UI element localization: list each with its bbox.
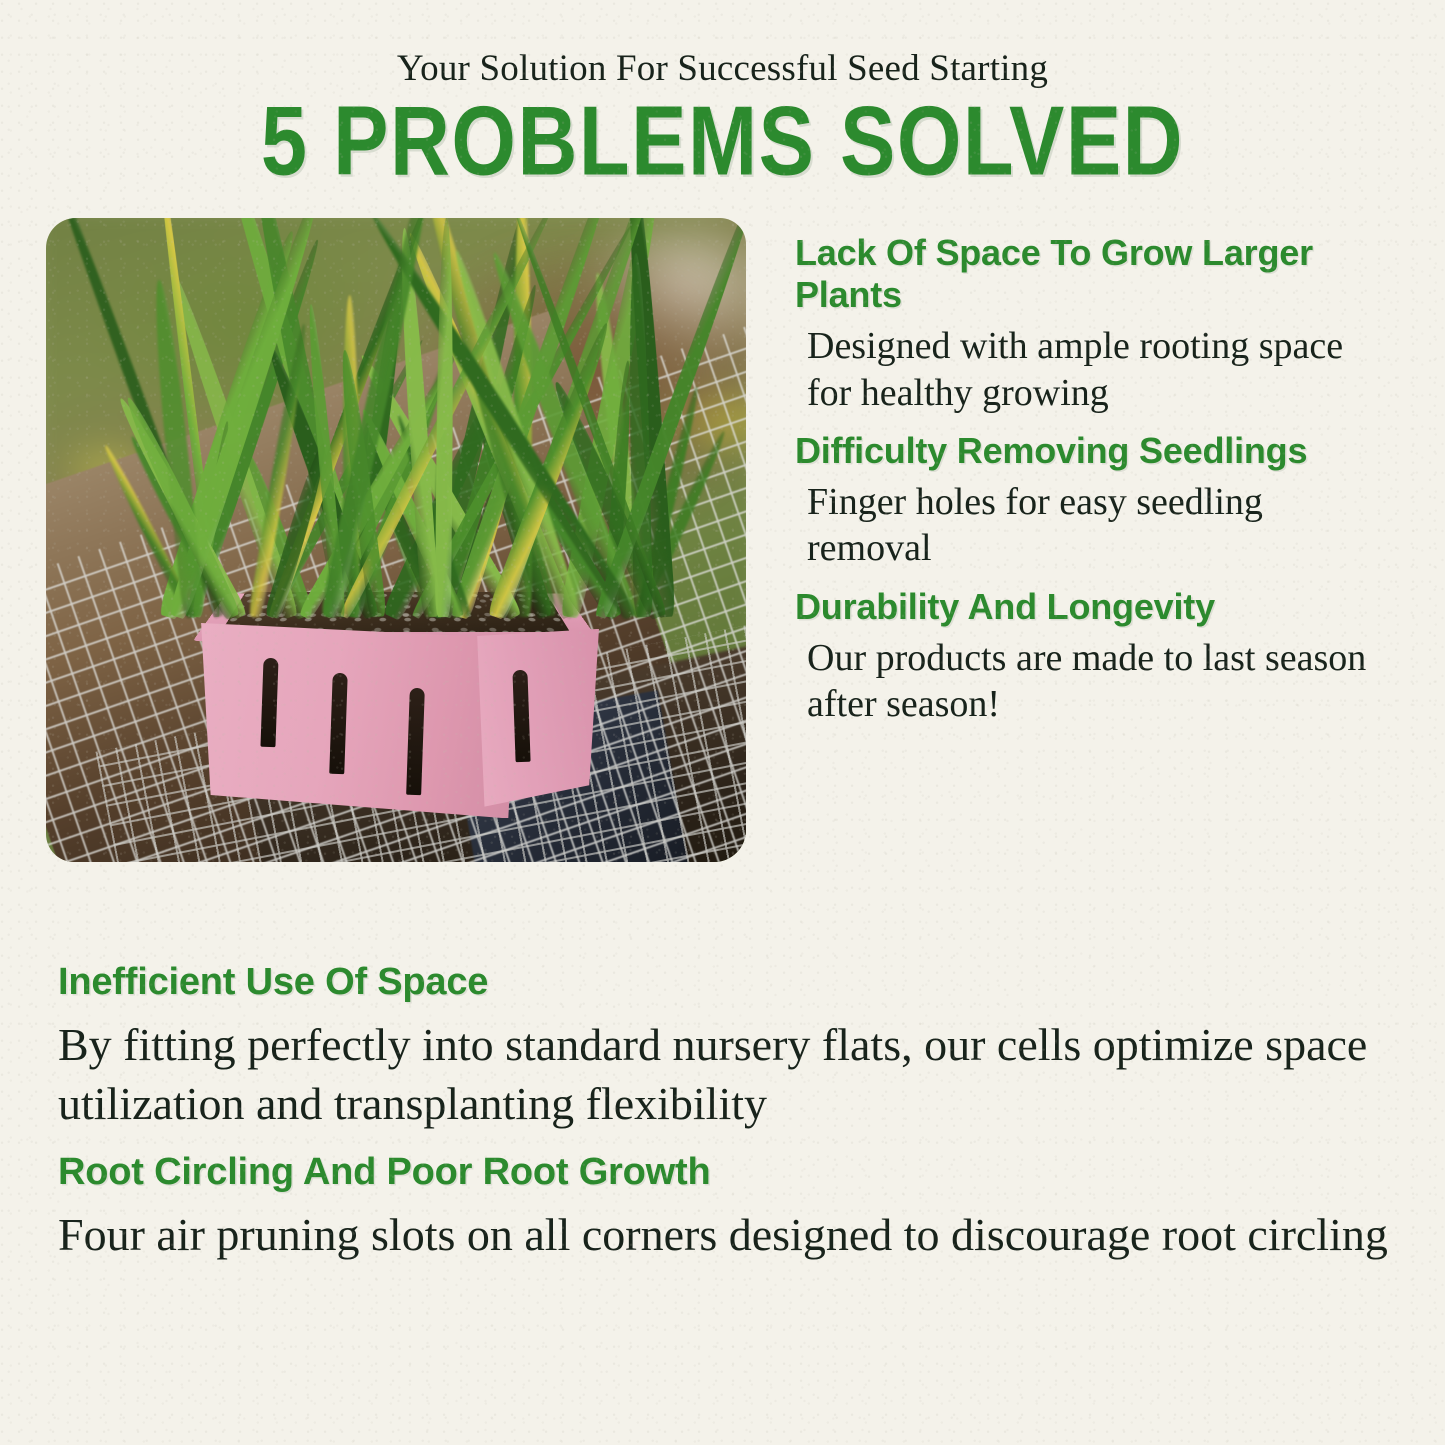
feature-body: By fitting perfectly into standard nurse… bbox=[58, 1016, 1388, 1134]
infographic-page: Your Solution For Successful Seed Starti… bbox=[0, 0, 1445, 1445]
right-column: Lack Of Space To Grow Larger Plants Desi… bbox=[795, 232, 1385, 728]
feature-heading: Difficulty Removing Seedlings bbox=[795, 430, 1385, 472]
feature-item: Lack Of Space To Grow Larger Plants Desi… bbox=[795, 232, 1385, 416]
feature-body: Finger holes for easy seedling removal bbox=[807, 479, 1385, 572]
feature-item: Root Circling And Poor Root Growth Four … bbox=[58, 1152, 1388, 1265]
feature-heading: Durability And Longevity bbox=[795, 586, 1385, 628]
page-title: 5 PROBLEMS SOLVED bbox=[0, 92, 1445, 190]
tagline: Your Solution For Successful Seed Starti… bbox=[0, 47, 1445, 90]
photo-scene bbox=[46, 218, 746, 862]
feature-heading: Lack Of Space To Grow Larger Plants bbox=[795, 232, 1385, 316]
feature-body: Our products are made to last season aft… bbox=[807, 635, 1385, 728]
product-photo bbox=[46, 218, 746, 862]
leaf bbox=[435, 218, 454, 617]
onion-seedling-leaves bbox=[46, 218, 746, 862]
feature-item: Difficulty Removing Seedlings Finger hol… bbox=[795, 430, 1385, 572]
feature-heading: Inefficient Use Of Space bbox=[58, 962, 1388, 1004]
feature-item: Inefficient Use Of Space By fitting perf… bbox=[58, 962, 1388, 1134]
feature-item: Durability And Longevity Our products ar… bbox=[795, 586, 1385, 728]
feature-body: Four air pruning slots on all corners de… bbox=[58, 1206, 1388, 1265]
feature-heading: Root Circling And Poor Root Growth bbox=[58, 1152, 1388, 1194]
feature-body: Designed with ample rooting space for he… bbox=[807, 323, 1385, 416]
